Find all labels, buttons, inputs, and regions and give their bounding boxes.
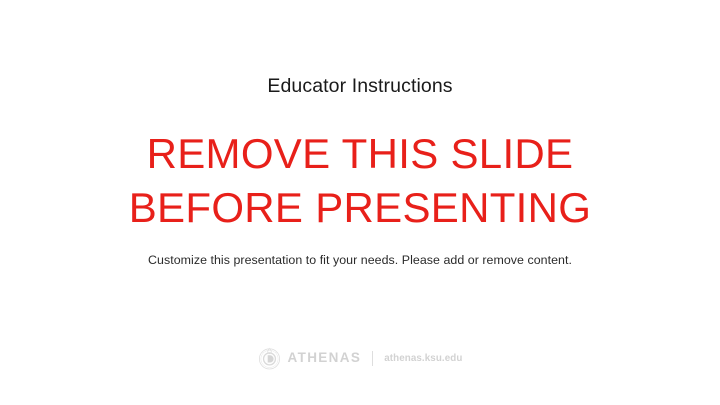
brand-divider [372,351,373,366]
warning-heading-line-2: BEFORE PRESENTING [0,181,720,235]
brand-wordmark: ATHENAS [288,350,362,366]
page-title: Educator Instructions [0,74,720,98]
instruction-text: Customize this presentation to fit your … [0,251,720,269]
brand-url: athenas.ksu.edu [384,352,462,365]
footer-brand-lockup: ATHENAS athenas.ksu.edu [0,345,720,371]
warning-heading: REMOVE THIS SLIDE BEFORE PRESENTING [0,127,720,235]
warning-heading-line-1: REMOVE THIS SLIDE [0,127,720,181]
athenas-seal-icon [258,347,281,370]
presentation-slide: Educator Instructions REMOVE THIS SLIDE … [0,0,720,405]
